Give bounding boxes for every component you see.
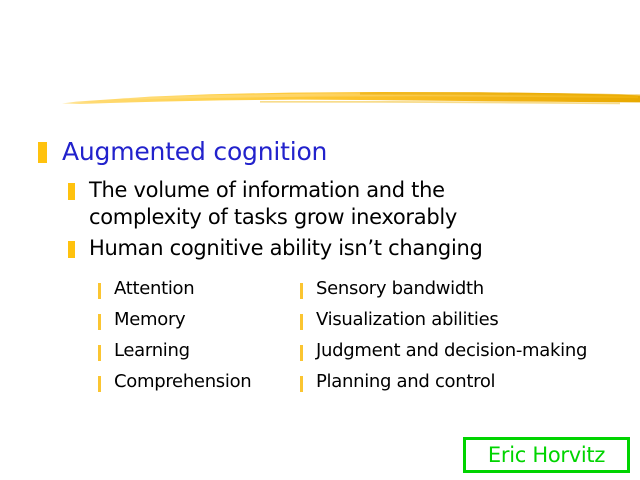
bar-bullet-icon xyxy=(98,314,101,330)
list-item-label: The volume of information and the comple… xyxy=(89,177,519,231)
list-item: Comprehension xyxy=(98,371,300,402)
page-title: Augmented cognition xyxy=(62,138,327,166)
bar-bullet-icon xyxy=(300,283,303,299)
level3-column-left: Attention Memory Learning Comprehension xyxy=(98,278,300,402)
list-item: Visualization abilities xyxy=(300,309,630,340)
list-item: Human cognitive ability isn’t changing xyxy=(68,235,608,262)
list-item: Learning xyxy=(98,340,300,371)
list-item-label: Visualization abilities xyxy=(316,309,499,331)
level3-two-column-list: Attention Memory Learning Comprehension … xyxy=(98,278,638,402)
level3-column-right: Sensory bandwidth Visualization abilitie… xyxy=(300,278,630,402)
square-bullet-icon xyxy=(68,183,75,200)
list-item-label: Comprehension xyxy=(114,371,251,393)
list-item-label: Sensory bandwidth xyxy=(316,278,484,300)
list-item: Judgment and decision-making xyxy=(300,340,630,371)
bar-bullet-icon xyxy=(98,345,101,361)
list-item: Sensory bandwidth xyxy=(300,278,630,309)
bar-bullet-icon xyxy=(300,376,303,392)
gold-brush-stroke-icon xyxy=(60,86,640,112)
bar-bullet-icon xyxy=(300,314,303,330)
level2-bullet-list: The volume of information and the comple… xyxy=(68,177,608,266)
bar-bullet-icon xyxy=(98,376,101,392)
list-item: Attention xyxy=(98,278,300,309)
presentation-slide: Augmented cognition The volume of inform… xyxy=(0,0,640,480)
list-item: The volume of information and the comple… xyxy=(68,177,608,231)
square-bullet-icon xyxy=(68,241,75,258)
list-item-label: Planning and control xyxy=(316,371,495,393)
list-item-label: Learning xyxy=(114,340,190,362)
list-item: Planning and control xyxy=(300,371,630,402)
bar-bullet-icon xyxy=(300,345,303,361)
presenter-signature-box: Eric Horvitz xyxy=(463,437,630,473)
square-bullet-icon xyxy=(38,142,47,163)
list-item: Memory xyxy=(98,309,300,340)
list-item-label: Human cognitive ability isn’t changing xyxy=(89,235,483,262)
list-item-label: Memory xyxy=(114,309,185,331)
slide-title-row: Augmented cognition xyxy=(38,138,327,166)
list-item-label: Judgment and decision-making xyxy=(316,340,587,362)
bar-bullet-icon xyxy=(98,283,101,299)
list-item-label: Attention xyxy=(114,278,194,300)
presenter-name: Eric Horvitz xyxy=(488,443,605,467)
